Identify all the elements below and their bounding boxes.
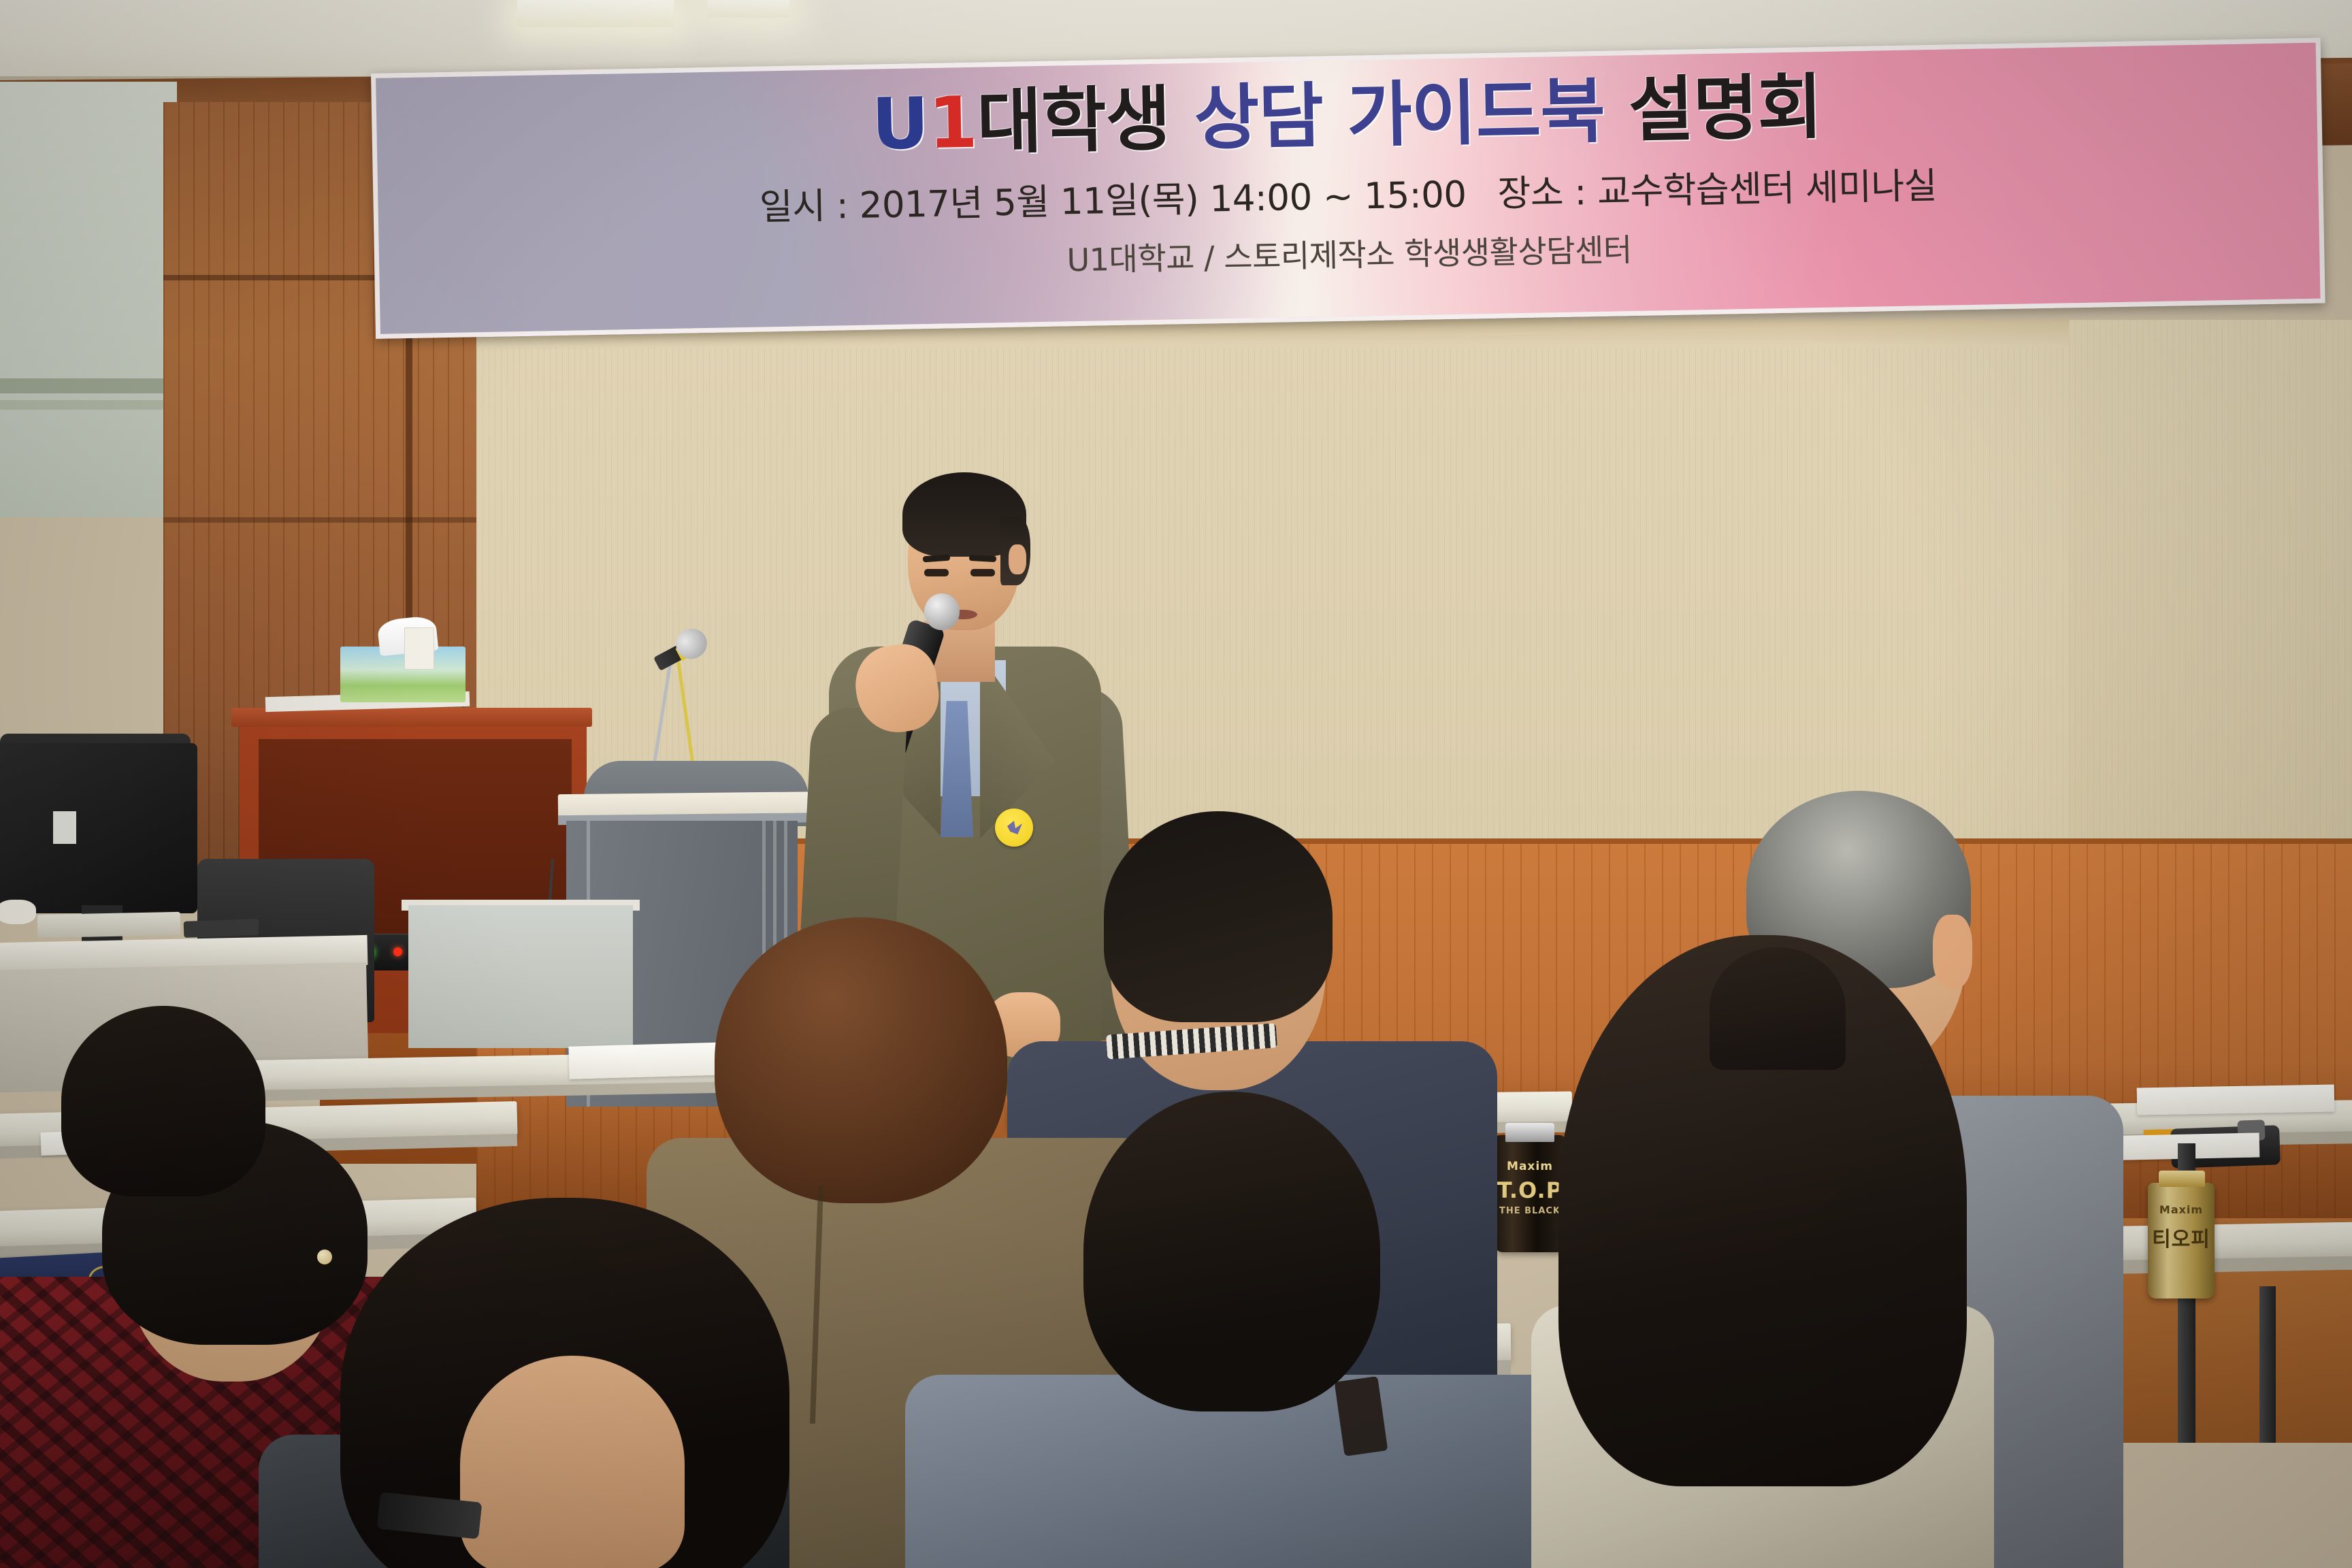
- earring: [317, 1249, 332, 1264]
- speaker-ear: [1009, 544, 1026, 574]
- speaker-eye-left: [924, 569, 949, 576]
- tissue-box: [340, 647, 465, 702]
- left-wood-panel-joint-lower: [163, 517, 490, 523]
- whiteboard-surface: [408, 905, 633, 1048]
- banner-title-word1: 대학생: [976, 77, 1171, 163]
- banner-title-u: U: [871, 82, 930, 166]
- ceiling-light-fixture: [517, 0, 674, 27]
- audience-hair: [1083, 1092, 1380, 1411]
- banner-title: U1대학생 상담 가이드북 설명회: [871, 69, 1823, 162]
- audience-hair: [1104, 811, 1333, 1022]
- coffee-bottle-line: T.O.P: [1494, 1177, 1565, 1203]
- coffee-bottle-cap: [1505, 1123, 1554, 1142]
- coffee-bottle-brand: Maxim: [2148, 1203, 2215, 1216]
- coffee-bottle-cap: [2159, 1171, 2205, 1187]
- ceiling-light-fixture-secondary: [708, 0, 789, 18]
- wall-switch-plate[interactable]: [404, 627, 434, 670]
- coffee-bottle-variant: THE BLACK: [1494, 1206, 1565, 1216]
- audience-head: [1710, 947, 1846, 1070]
- banner-subtitle: 일시 : 2017년 5월 11일(목) 14:00 ~ 15:00장소 : 교…: [759, 157, 1937, 231]
- speaker-eye-right: [970, 569, 995, 576]
- event-banner: U1대학생 상담 가이드북 설명회 일시 : 2017년 5월 11일(목) 1…: [371, 37, 2325, 338]
- coffee-bottle-maxim-top[interactable]: Maxim T.O.P THE BLACK: [1494, 1135, 1565, 1252]
- audience-ear: [1933, 915, 1972, 988]
- banner-title-one: 1: [928, 81, 978, 165]
- banner-title-word3: 설명회: [1604, 65, 1823, 152]
- banner-datetime: 일시 : 2017년 5월 11일(목) 14:00 ~ 15:00: [759, 174, 1467, 229]
- photograph-seminar-room: U1대학생 상담 가이드북 설명회 일시 : 2017년 5월 11일(목) 1…: [0, 0, 2352, 1568]
- left-wall-trim: [0, 378, 181, 393]
- coffee-bottle-korean: 티오피: [2148, 1222, 2215, 1252]
- keyboard[interactable]: [37, 912, 181, 938]
- left-wall-trim-lower: [0, 400, 181, 410]
- banner-location: 장소 : 교수학습센터 세미나실: [1497, 165, 1938, 215]
- computer-monitor: [0, 743, 197, 913]
- notebook-right: [2137, 1084, 2335, 1115]
- remote-control[interactable]: [184, 919, 259, 938]
- left-green-wall: [0, 82, 177, 517]
- audience-head: [460, 1356, 685, 1568]
- banner-organizer: U1대학교 / 스토리제작소 학생생활상담센터: [1066, 225, 1632, 280]
- coffee-bottle-gold[interactable]: Maxim 티오피: [2148, 1183, 2215, 1298]
- coffee-bottle-brand: Maxim: [1494, 1160, 1565, 1173]
- banner-title-word2: 상담 가이드북: [1169, 69, 1605, 161]
- audience-hair: [61, 1006, 265, 1196]
- monitor-label-sticker: [53, 811, 76, 844]
- mouse[interactable]: [0, 900, 36, 924]
- handheld-microphone-head: [924, 593, 960, 630]
- power-led-red-2: [393, 947, 402, 956]
- desk-leg: [2259, 1286, 2276, 1443]
- audience-hair: [715, 917, 1007, 1203]
